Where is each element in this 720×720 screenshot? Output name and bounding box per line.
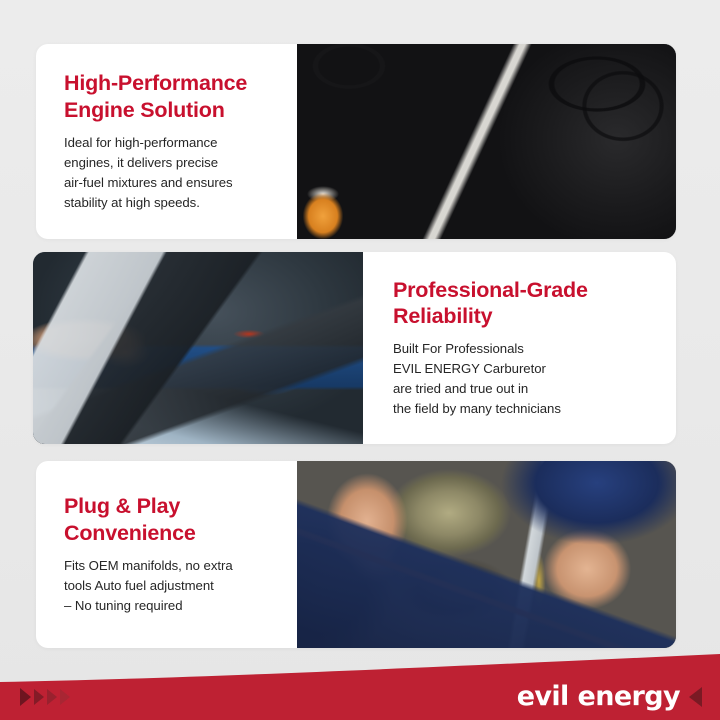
brand-footer-bar: evil energy [0, 654, 720, 720]
brand-logo: evil energy [517, 683, 702, 710]
triangle-right-icon [60, 689, 70, 705]
card-text-block: High-Performance Engine Solution Ideal f… [36, 44, 297, 239]
brand-wordmark: evil energy [517, 683, 680, 710]
card-photo-laptop-diagnostics [33, 252, 363, 444]
card-body-text: Ideal for high-performance engines, it d… [64, 133, 277, 213]
triangle-right-icon [20, 688, 31, 706]
card-headline: Professional-Grade Reliability [393, 277, 660, 330]
card-headline: High-Performance Engine Solution [64, 70, 277, 123]
brand-arrow-group [20, 688, 70, 706]
triangle-left-icon [689, 687, 702, 707]
card-body-text: Built For Professionals EVIL ENERGY Carb… [393, 339, 660, 419]
triangle-right-icon [34, 689, 44, 705]
card-photo-carburetor-engine [297, 44, 676, 239]
feature-card-plug-and-play-convenience: Plug & Play Convenience Fits OEM manifol… [36, 461, 676, 648]
card-text-block: Professional-Grade Reliability Built For… [363, 252, 676, 444]
card-body-text: Fits OEM manifolds, no extra tools Auto … [64, 556, 279, 616]
feature-card-professional-grade-reliability: Professional-Grade Reliability Built For… [33, 252, 676, 444]
card-headline: Plug & Play Convenience [64, 493, 279, 546]
card-text-block: Plug & Play Convenience Fits OEM manifol… [36, 461, 297, 648]
triangle-right-icon [47, 689, 57, 705]
feature-card-high-performance-engine-solution: High-Performance Engine Solution Ideal f… [36, 44, 676, 239]
card-photo-carburetor-install [297, 461, 676, 648]
